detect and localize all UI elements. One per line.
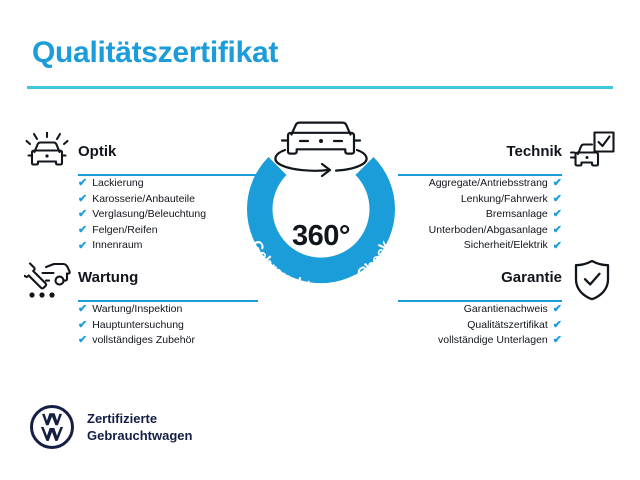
section-optik: Optik ✔ Lackierung ✔ Karosserie/Anbautei… (78, 142, 258, 254)
section-optik-header: Optik (78, 142, 258, 176)
list-item-label: Felgen/Reifen (92, 223, 157, 239)
check-icon: ✔ (553, 209, 562, 220)
section-garantie-list: Garantienachweis ✔ Qualitätszertifikat ✔… (398, 302, 562, 349)
list-item: Aggregate/Antriebsstrang ✔ (398, 176, 562, 192)
list-item: Bremsanlage ✔ (398, 207, 562, 223)
car-checkbox-icon (569, 131, 615, 178)
vw-logo (30, 405, 74, 449)
section-optik-divider (78, 174, 258, 176)
list-item: ✔ Wartung/Inspektion (78, 302, 258, 318)
list-item: Garantienachweis ✔ (398, 302, 562, 318)
check-icon: ✔ (78, 241, 87, 252)
list-item-label: Bremsanlage (486, 207, 548, 223)
list-item-label: Innenraum (92, 238, 142, 254)
check-icon: ✔ (78, 225, 87, 236)
section-wartung-list: ✔ Wartung/Inspektion ✔ Hauptuntersuchung… (78, 302, 258, 349)
section-garantie-title: Garantie (398, 268, 562, 288)
section-wartung: Wartung ✔ Wartung/Inspektion ✔ Hauptunte… (78, 268, 258, 349)
list-item: ✔ Karosserie/Anbauteile (78, 192, 258, 208)
check-icon: ✔ (78, 209, 87, 220)
check-icon: ✔ (78, 194, 87, 205)
list-item: vollständige Unterlagen ✔ (398, 333, 562, 349)
car-front-lights-icon (24, 132, 70, 177)
list-item-label: Lackierung (92, 176, 143, 192)
check-icon: ✔ (553, 241, 562, 252)
car-service-wrench-icon (24, 259, 72, 306)
list-item-label: Verglasung/Beleuchtung (92, 207, 206, 223)
list-item-label: Qualitätszertifikat (467, 318, 548, 334)
list-item: ✔ Lackierung (78, 176, 258, 192)
section-technik-title: Technik (398, 142, 562, 162)
check-icon: ✔ (78, 320, 87, 331)
title-divider (27, 86, 613, 89)
check-icon: ✔ (553, 335, 562, 346)
section-wartung-divider (78, 300, 258, 302)
section-wartung-title: Wartung (78, 268, 258, 288)
list-item: ✔ Innenraum (78, 238, 258, 254)
list-item: ✔ vollständiges Zubehör (78, 333, 258, 349)
list-item-label: Hauptuntersuchung (92, 318, 184, 334)
section-technik-divider (398, 174, 562, 176)
list-item: ✔ Hauptuntersuchung (78, 318, 258, 334)
section-technik-header: Technik (398, 142, 562, 176)
list-item: Qualitätszertifikat ✔ (398, 318, 562, 334)
list-item-label: Karosserie/Anbauteile (92, 192, 195, 208)
check-icon: ✔ (553, 178, 562, 189)
section-technik: Technik Aggregate/Antriebsstrang ✔ Lenku… (398, 142, 562, 254)
section-optik-list: ✔ Lackierung ✔ Karosserie/Anbauteile ✔ V… (78, 176, 258, 254)
check-icon: ✔ (553, 320, 562, 331)
list-item: Lenkung/Fahrwerk ✔ (398, 192, 562, 208)
section-wartung-header: Wartung (78, 268, 258, 302)
check-icon: ✔ (78, 178, 87, 189)
check-icon: ✔ (553, 304, 562, 315)
list-item-label: Wartung/Inspektion (92, 302, 182, 318)
check-icon: ✔ (78, 304, 87, 315)
section-garantie: Garantie Garantienachweis ✔ Qualitätszer… (398, 268, 562, 349)
page-title: Qualitätszertifikat (32, 36, 278, 70)
section-technik-list: Aggregate/Antriebsstrang ✔ Lenkung/Fahrw… (398, 176, 562, 254)
check-icon: ✔ (553, 225, 562, 236)
footer: Zertifizierte Gebrauchtwagen (30, 405, 192, 449)
list-item-label: Aggregate/Antriebsstrang (429, 176, 548, 192)
footer-claim: Zertifizierte Gebrauchtwagen (87, 410, 192, 444)
check-icon: ✔ (553, 194, 562, 205)
list-item: ✔ Felgen/Reifen (78, 223, 258, 239)
shield-check-icon (573, 259, 611, 306)
section-garantie-header: Garantie (398, 268, 562, 302)
list-item-label: vollständige Unterlagen (438, 333, 548, 349)
certificate-page: Qualitätszertifikat (0, 0, 640, 480)
check-icon: ✔ (78, 335, 87, 346)
section-garantie-divider (398, 300, 562, 302)
list-item-label: Unterboden/Abgasanlage (429, 223, 548, 239)
list-item-label: vollständiges Zubehör (92, 333, 195, 349)
list-item: Unterboden/Abgasanlage ✔ (398, 223, 562, 239)
list-item: ✔ Verglasung/Beleuchtung (78, 207, 258, 223)
list-item: Sicherheit/Elektrik ✔ (398, 238, 562, 254)
list-item-label: Lenkung/Fahrwerk (461, 192, 548, 208)
list-item-label: Garantienachweis (464, 302, 548, 318)
list-item-label: Sicherheit/Elektrik (464, 238, 548, 254)
section-optik-title: Optik (78, 142, 258, 162)
car-rotation-360-icon (275, 123, 366, 176)
